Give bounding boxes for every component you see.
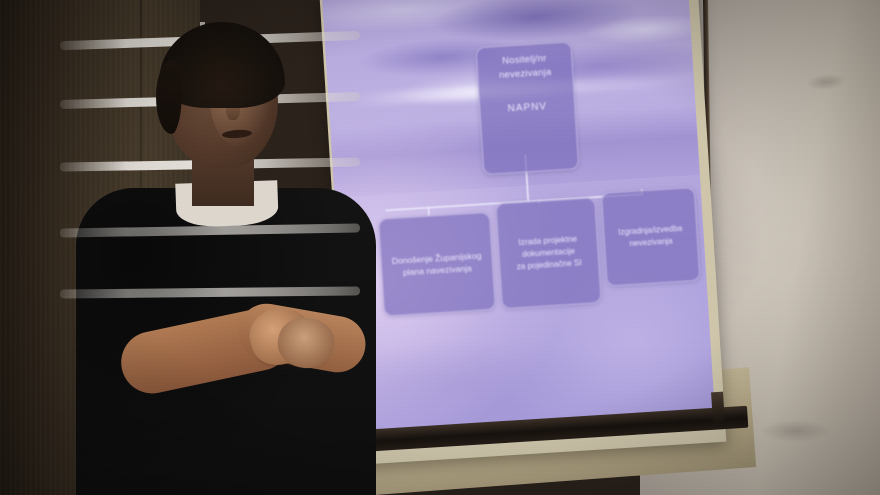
org-chart-child-node-2: Izrada projektne dokumentacije za pojedi…	[495, 197, 601, 309]
org-chart-child-node-3: Izgradnja/izvedba nevezivanja	[601, 187, 701, 287]
org-chart-root-node: Nositelj/nr nevezivanja NAPNV	[475, 41, 579, 175]
org-chart-child-node-1: Donošenje Županijskog plana navezivanja	[378, 212, 496, 317]
wall-mark-lower	[760, 420, 830, 442]
screen-bar-tip	[711, 392, 725, 423]
photo-scene: Nositelj/nr nevezivanja NAPNV Donošenje …	[0, 0, 880, 495]
presenter	[60, 22, 390, 495]
root-line-2: nevezivanja	[499, 65, 552, 82]
presenter-hair-side	[156, 60, 182, 134]
child3-line-2: nevezivanja	[629, 235, 673, 250]
root-acronym: NAPNV	[507, 100, 547, 117]
